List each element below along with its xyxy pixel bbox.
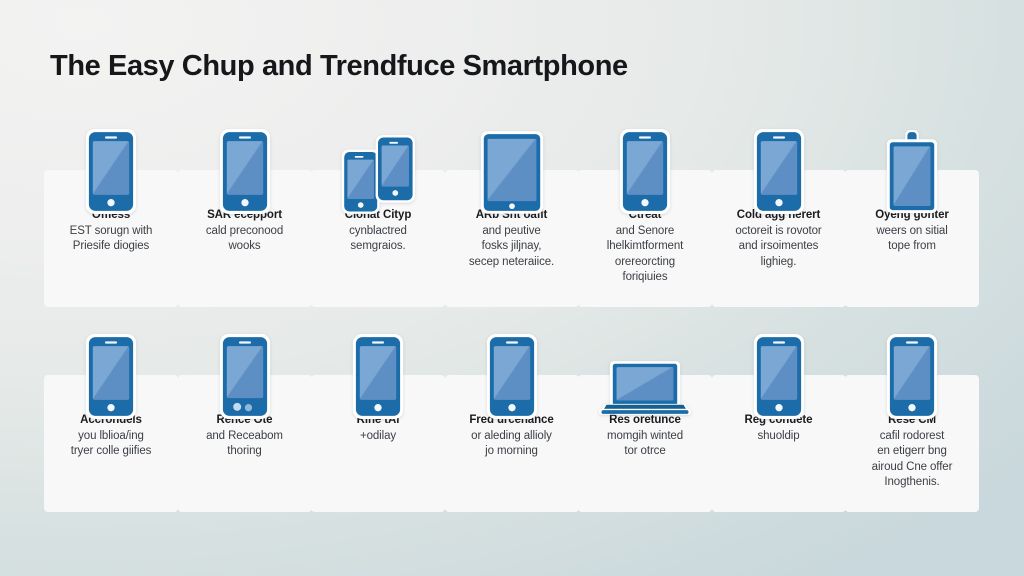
card-row-2: Accrondelsyou lblioa/ing tryer colle gii…	[44, 320, 980, 520]
feature-card[interactable]: Clonat Citypcynblactred semgraios.	[311, 115, 445, 315]
feature-card[interactable]: Cold agg nerertoctoreit is rovotor and i…	[712, 115, 846, 315]
card-body: or aleding allioly jo morning	[449, 429, 575, 459]
card-body: cafil rodorest en etigerr bng airoud Cne…	[849, 429, 975, 490]
card-body: and peutive fosks jiljnay, secep neterai…	[449, 224, 575, 270]
feature-card[interactable]: Rence Oteand Receabom thoring	[178, 320, 312, 520]
card-text: Cold agg nerertoctoreit is rovotor and i…	[716, 208, 842, 270]
smartphone-icon	[178, 115, 312, 215]
card-body: EST sorugn with Priesife diogies	[48, 224, 174, 254]
feature-card[interactable]: OffiessEST sorugn with Priesife diogies	[44, 115, 178, 315]
card-row-1: OffiessEST sorugn with Priesife diogies …	[44, 115, 980, 315]
feature-card[interactable]: Accrondelsyou lblioa/ing tryer colle gii…	[44, 320, 178, 520]
smartphone-icon	[845, 320, 979, 420]
card-body: you lblioa/ing tryer colle giifies	[48, 429, 174, 459]
tablet-icon	[445, 115, 579, 215]
smartphone-icon	[311, 320, 445, 420]
smartphone-icon	[44, 320, 178, 420]
page-title: The Easy Chup and Trendfuce Smartphone	[50, 50, 628, 83]
smartphone-dual-cam-icon	[178, 320, 312, 420]
card-body: shuoldip	[716, 429, 842, 444]
feature-card[interactable]: Ctreatand Senore lhelkimtforment orereor…	[578, 115, 712, 315]
feature-card[interactable]: Res oretuncemomgih winted tor otrce	[578, 320, 712, 520]
feature-card[interactable]: Fred urcehanceor aleding allioly jo morn…	[445, 320, 579, 520]
feature-card[interactable]: Rese CMcafil rodorest en etigerr bng air…	[845, 320, 979, 520]
card-body: and Receabom thoring	[182, 429, 308, 459]
card-body: octoreit is rovotor and irsoimentes ligh…	[716, 224, 842, 270]
feature-card[interactable]: Oyeng gonterweers on sitial tope from	[845, 115, 979, 315]
laptop-icon	[578, 320, 712, 420]
card-text: ARb Snt oafitand peutive fosks jiljnay, …	[449, 208, 575, 270]
card-body: cynblactred semgraios.	[315, 224, 441, 254]
feature-card[interactable]: ARb Snt oafitand peutive fosks jiljnay, …	[445, 115, 579, 315]
card-text: Rese CMcafil rodorest en etigerr bng air…	[849, 413, 975, 490]
card-body: +odilay	[315, 429, 441, 444]
smartphone-icon	[578, 115, 712, 215]
card-body: weers on sitial tope from	[849, 224, 975, 254]
smartphone-icon	[712, 115, 846, 215]
smartphone-icon	[712, 320, 846, 420]
clipboard-device-icon	[845, 115, 979, 215]
card-body: cald preconood wooks	[182, 224, 308, 254]
feature-card[interactable]: SAR ecepportcald preconood wooks	[178, 115, 312, 315]
two-smartphones-icon	[311, 115, 445, 215]
card-body: momgih winted tor otrce	[582, 429, 708, 459]
smartphone-icon	[44, 115, 178, 215]
feature-card[interactable]: Reg conueteshuoldip	[712, 320, 846, 520]
card-body: and Senore lhelkimtforment orereorcting …	[582, 224, 708, 285]
smartphone-icon	[445, 320, 579, 420]
card-text: Ctreatand Senore lhelkimtforment orereor…	[582, 208, 708, 285]
feature-card[interactable]: Rine tAl+odilay	[311, 320, 445, 520]
